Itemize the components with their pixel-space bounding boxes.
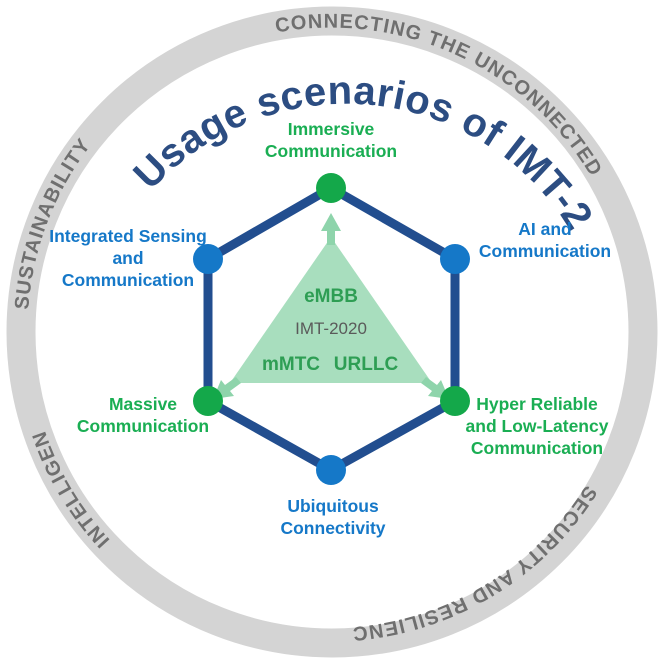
node-label-line: Communication bbox=[265, 141, 397, 161]
triangle-label-imt-2020: IMT-2020 bbox=[295, 319, 367, 338]
diagram-canvas: SUSTAINABILITY CONNECTING THE UNCONNECTE… bbox=[0, 0, 663, 664]
node-label-ubiquitous-connectivity: Ubiquitous Connectivity bbox=[280, 496, 385, 538]
node-immersive-communication[interactable] bbox=[316, 173, 346, 203]
node-label-line: Connectivity bbox=[280, 518, 385, 538]
imt-2020-triangle bbox=[230, 237, 432, 383]
node-label-massive-communication: Massive Communication bbox=[77, 394, 209, 436]
node-label-line: Communication bbox=[77, 416, 209, 436]
node-label-hyper-reliable-and-low-latency-communication: Hyper Reliable and Low-Latency Communica… bbox=[466, 394, 609, 458]
hex-edge-top-right bbox=[331, 188, 455, 259]
node-ubiquitous-connectivity[interactable] bbox=[316, 455, 346, 485]
node-label-line: Integrated Sensing bbox=[49, 226, 207, 246]
imt-2030-usage-scenarios-diagram: SUSTAINABILITY CONNECTING THE UNCONNECTE… bbox=[0, 0, 663, 664]
hex-edge-bottom-right bbox=[331, 401, 455, 470]
node-label-line: Immersive bbox=[288, 119, 375, 139]
node-label-immersive-communication: Immersive Communication bbox=[265, 119, 397, 161]
node-massive-communication[interactable] bbox=[193, 386, 223, 416]
node-label-ai-and-communication: AI and Communication bbox=[479, 219, 611, 261]
node-ai-and-communication[interactable] bbox=[440, 244, 470, 274]
node-label-line: Communication bbox=[62, 270, 194, 290]
node-label-line: Communication bbox=[479, 241, 611, 261]
hex-edge-top-left bbox=[208, 188, 331, 259]
node-hyper-reliable-and-low-latency-communication[interactable] bbox=[440, 386, 470, 416]
node-label-integrated-sensing-and-communication: Integrated Sensing and Communication bbox=[49, 226, 207, 290]
node-label-line: Ubiquitous bbox=[287, 496, 379, 516]
node-label-line: Hyper Reliable bbox=[476, 394, 598, 414]
node-label-line: and bbox=[112, 248, 143, 268]
node-label-line: Communication bbox=[471, 438, 603, 458]
triangle-label-mmtc: mMTC bbox=[262, 354, 320, 375]
node-label-line: and Low-Latency bbox=[466, 416, 609, 436]
node-label-line: Massive bbox=[109, 394, 177, 414]
node-label-line: AI and bbox=[518, 219, 571, 239]
node-integrated-sensing-and-communication[interactable] bbox=[193, 244, 223, 274]
triangle-label-urllc: URLLC bbox=[334, 354, 399, 375]
hex-edge-bottom-left bbox=[208, 401, 331, 470]
triangle-label-embb: eMBB bbox=[304, 286, 358, 307]
arrow-up-to-immersive-icon bbox=[321, 213, 341, 245]
